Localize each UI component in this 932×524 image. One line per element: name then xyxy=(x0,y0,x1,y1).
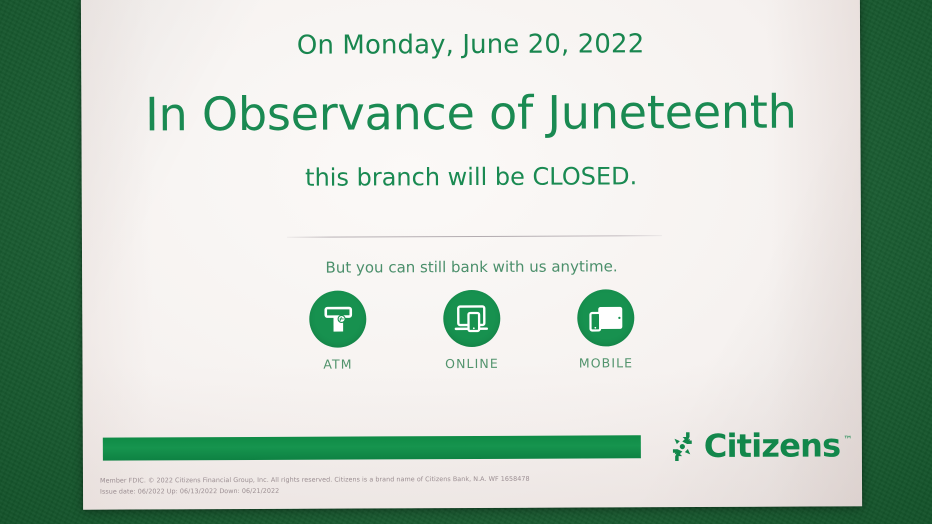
citizens-wordmark: Citizens xyxy=(704,429,841,462)
footer-green-bar xyxy=(103,435,641,460)
printed-notice-sheet: On Monday, June 20, 2022 In Observance o… xyxy=(81,0,862,510)
channel-mobile: MOBILE xyxy=(555,289,657,370)
channel-online: ONLINE xyxy=(421,290,523,371)
channel-label-online: ONLINE xyxy=(445,356,499,371)
desktop-and-phone-icon xyxy=(454,301,490,335)
atm-machine-icon xyxy=(321,302,355,336)
legal-fine-print: Member FDIC. © 2022 Citizens Financial G… xyxy=(100,473,800,497)
alternative-banking-line: But you can still bank with us anytime. xyxy=(82,256,861,277)
mobile-icon-disc xyxy=(577,289,634,346)
trademark-symbol: ™ xyxy=(843,435,852,445)
notice-headline: In Observance of Juneteenth xyxy=(81,84,860,141)
atm-icon-disc xyxy=(309,290,366,347)
channel-atm: ATM xyxy=(287,290,389,371)
citizens-logo: Citizens ™ xyxy=(668,429,853,462)
horizontal-divider xyxy=(287,235,662,238)
channel-label-mobile: MOBILE xyxy=(579,355,633,370)
photograph-of-branch-notice: On Monday, June 20, 2022 In Observance o… xyxy=(0,0,932,524)
banking-channels-group: ATM ONLINE xyxy=(82,288,861,372)
tablet-and-phone-icon xyxy=(588,303,624,333)
notice-content: On Monday, June 20, 2022 In Observance o… xyxy=(81,0,862,510)
online-icon-disc xyxy=(443,290,500,347)
citizens-starburst-logo-icon xyxy=(668,432,697,461)
notice-subheadline: this branch will be CLOSED. xyxy=(82,161,861,192)
channel-label-atm: ATM xyxy=(323,357,352,372)
notice-date-line: On Monday, June 20, 2022 xyxy=(81,28,860,61)
